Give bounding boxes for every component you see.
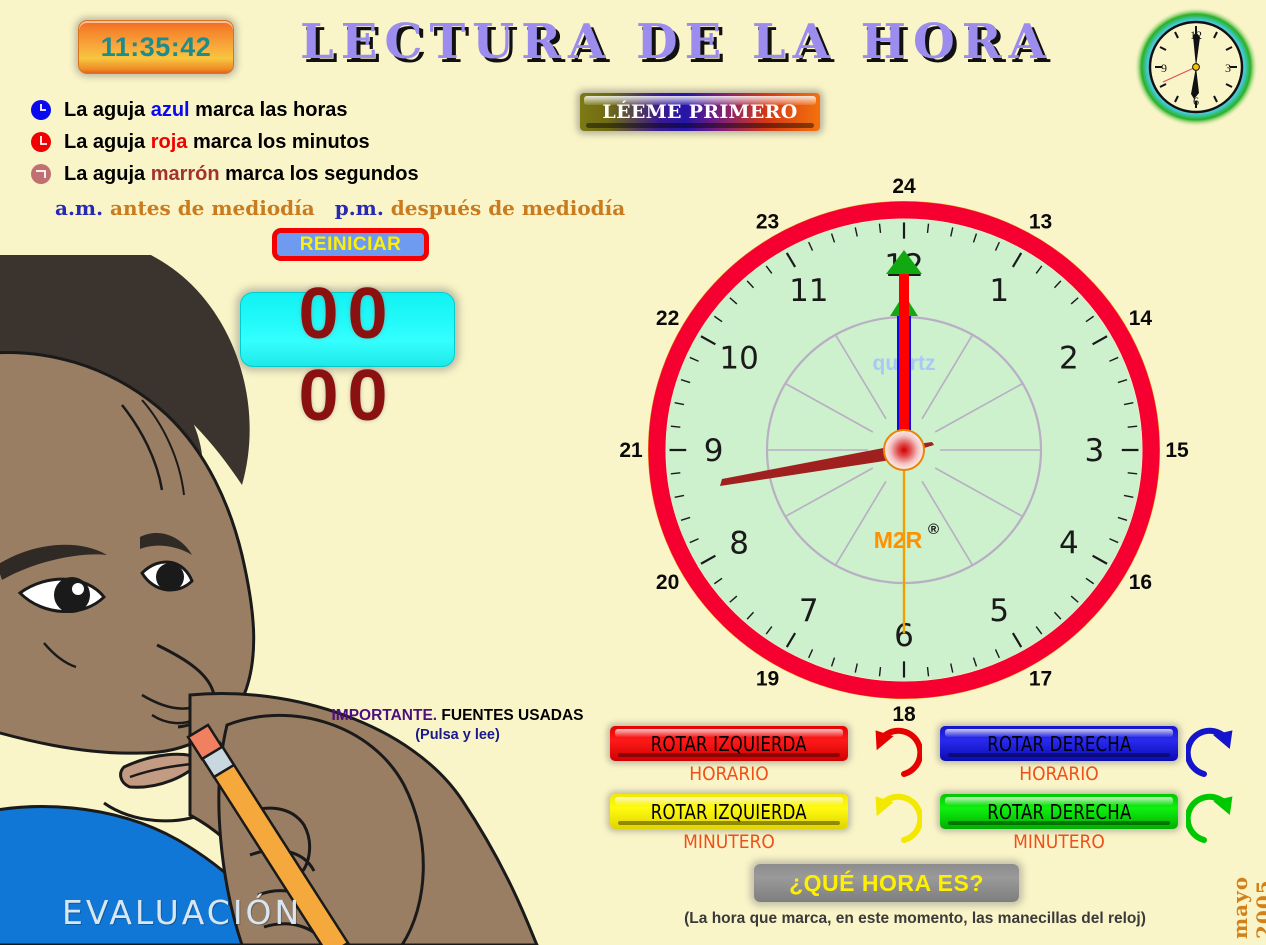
date-stamp: mayo 2005 xyxy=(1228,832,1266,939)
page-title: LECTURA DE LA HORA xyxy=(300,14,1040,70)
rotate-right-hour-label: ROTAR DERECHA xyxy=(987,732,1131,756)
clock-inner-hour-2: 2 xyxy=(1059,341,1079,377)
clock-inner-hour-4: 4 xyxy=(1059,525,1079,561)
rotate-right-minute-button[interactable]: ROTAR DERECHA xyxy=(940,794,1178,829)
rotate-left-minute-label: ROTAR IZQUIERDA xyxy=(651,800,807,824)
clock-inner-hour-10: 10 xyxy=(719,341,758,377)
clock-outer-hour-17: 17 xyxy=(1029,668,1052,691)
clock-maker-text: M2R xyxy=(874,527,923,553)
clock-outer-hour-15: 15 xyxy=(1165,439,1189,462)
clock-outer-hour-14: 14 xyxy=(1129,307,1153,330)
clock-outer-hour-22: 22 xyxy=(656,307,679,330)
rotate-cw-arrow-blue-icon xyxy=(1186,724,1248,784)
digital-clock-display: 11:35:42 xyxy=(78,20,234,74)
clock-outer-hour-18: 18 xyxy=(892,703,916,726)
clock-inner-hour-3: 3 xyxy=(1085,433,1105,469)
clock-inner-hour-9: 9 xyxy=(704,433,724,469)
clock-inner-hour-5: 5 xyxy=(989,593,1009,629)
clock-inner-hour-7: 7 xyxy=(799,593,819,629)
clock-icon-brown xyxy=(30,163,52,185)
fonts-note-line1: IMPORTANTE. FUENTES USADAS xyxy=(300,707,615,725)
clock-outer-hour-13: 13 xyxy=(1029,210,1052,233)
digital-clock-time: 11:35:42 xyxy=(101,32,212,63)
thinking-person-illustration xyxy=(0,255,572,945)
rotate-right-hour-sublabel: HORARIO xyxy=(940,763,1178,785)
clock-inner-hour-1: 1 xyxy=(989,273,1009,309)
clock-icon-red xyxy=(30,131,52,153)
legend-list: La aguja azul marca las horas La aguja r… xyxy=(30,94,650,190)
what-time-is-it-label: ¿QUÉ HORA ES? xyxy=(789,870,984,897)
rotate-right-hour-button[interactable]: ROTAR DERECHA xyxy=(940,726,1178,761)
am-text: antes de mediodía xyxy=(103,196,315,220)
rotate-ccw-arrow-yellow-icon xyxy=(860,790,922,850)
trademark-symbol: ® xyxy=(928,521,939,538)
clock-outer-hour-21: 21 xyxy=(619,439,643,462)
am-pm-explainer: a.m. antes de mediodíap.m. después de me… xyxy=(55,196,625,220)
fonts-note-line2: (Pulsa y lee) xyxy=(300,727,615,743)
legend-text-minutes: La aguja roja marca los minutos xyxy=(64,131,370,154)
clock-inner-hour-8: 8 xyxy=(729,525,749,561)
clock-outer-hour-20: 20 xyxy=(656,571,679,594)
legend-text-hours: La aguja azul marca las horas xyxy=(64,99,347,122)
what-time-is-it-caption: (La hora que marca, en este momento, las… xyxy=(600,910,1230,928)
am-abbr: a.m. xyxy=(55,196,103,220)
rotate-left-minute-button[interactable]: ROTAR IZQUIERDA xyxy=(610,794,848,829)
reset-button-label: REINICIAR xyxy=(300,234,402,256)
rotate-left-minute-sublabel: MINUTERO xyxy=(610,831,848,853)
clock-outer-hour-24: 24 xyxy=(892,175,916,198)
clock-outer-hour-19: 19 xyxy=(756,668,779,691)
evaluacion-shirt-label: EVALUACIÓN xyxy=(62,893,302,932)
list-item: La aguja marrón marca los segundos xyxy=(30,158,650,190)
clock-outer-hour-16: 16 xyxy=(1129,571,1152,594)
pm-abbr: p.m. xyxy=(335,196,384,220)
rotate-left-hour-sublabel: HORARIO xyxy=(610,763,848,785)
rotate-ccw-arrow-red-icon xyxy=(860,724,922,784)
svg-text:9: 9 xyxy=(1161,61,1167,75)
main-analog-clock[interactable]: 123456789101112 131415161718192021222324… xyxy=(612,168,1192,728)
list-item: La aguja azul marca las horas xyxy=(30,94,650,126)
decorative-clock-icon: 12 3 6 9 xyxy=(1133,6,1259,128)
legend-text-seconds: La aguja marrón marca los segundos xyxy=(64,163,419,186)
rotate-right-minute-label: ROTAR DERECHA xyxy=(987,800,1131,824)
rotate-right-minute-sublabel: MINUTERO xyxy=(940,831,1178,853)
clock-icon-blue xyxy=(30,99,52,121)
clock-inner-hour-11: 11 xyxy=(789,273,828,309)
list-item: La aguja roja marca los minutos xyxy=(30,126,650,158)
clock-outer-hour-23: 23 xyxy=(756,210,779,233)
what-time-is-it-button[interactable]: ¿QUÉ HORA ES? xyxy=(754,864,1019,902)
rotate-left-hour-button[interactable]: ROTAR IZQUIERDA xyxy=(610,726,848,761)
fonts-note[interactable]: IMPORTANTE. FUENTES USADAS (Pulsa y lee) xyxy=(300,707,615,743)
svg-text:3: 3 xyxy=(1225,61,1231,75)
rotate-left-hour-label: ROTAR IZQUIERDA xyxy=(651,732,807,756)
pm-text: después de mediodía xyxy=(384,196,625,220)
read-first-label: LÉEME PRIMERO xyxy=(602,101,797,123)
